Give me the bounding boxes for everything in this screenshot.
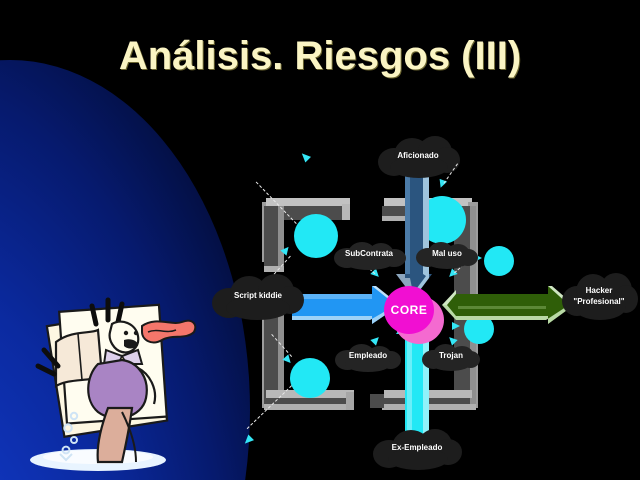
page-title: Análisis. Riesgos (III) bbox=[0, 34, 640, 79]
core-label: CORE bbox=[391, 303, 428, 317]
node-dot-bottom-left bbox=[290, 358, 330, 398]
cloud-mal-uso-label: Mal uso bbox=[432, 249, 462, 259]
cloud-ex-empleado[interactable]: Ex-Empleado bbox=[370, 426, 464, 470]
cloud-script-kiddie[interactable]: Script kiddie bbox=[210, 272, 306, 320]
cloud-empleado-label: Empleado bbox=[349, 351, 387, 361]
node-dot-right-mid bbox=[484, 246, 514, 276]
cloud-trojan[interactable]: Trojan bbox=[420, 342, 482, 370]
arrow-top-svg bbox=[396, 166, 440, 306]
risk-diagram: CORE SubContrata Mal uso Empleado bbox=[196, 118, 640, 478]
cloud-hacker-profesional[interactable]: Hacker "Profesional" bbox=[560, 270, 638, 322]
arrowhead-top-left bbox=[299, 150, 311, 162]
cloud-ex-empleado-label: Ex-Empleado bbox=[392, 443, 443, 453]
cloud-trojan-label: Trojan bbox=[439, 351, 463, 361]
cloud-hacker-label: Hacker "Profesional" bbox=[573, 285, 624, 307]
arrowhead-bottom-left bbox=[242, 434, 254, 446]
overwhelmed-person-clipart bbox=[26, 294, 202, 476]
arrow-right-hacker bbox=[442, 286, 576, 330]
arrow-top-aficionado bbox=[396, 166, 440, 306]
node-arrow-bottom-right bbox=[452, 322, 460, 330]
cloud-subcontrata-label: SubContrata bbox=[345, 249, 393, 259]
arrow-right-svg bbox=[442, 286, 576, 330]
cloud-script-kiddie-label: Script kiddie bbox=[234, 291, 282, 301]
cloud-subcontrata[interactable]: SubContrata bbox=[330, 240, 408, 268]
cloud-empleado[interactable]: Empleado bbox=[332, 342, 404, 370]
cloud-aficionado-label: Aficionado bbox=[397, 151, 438, 161]
clipart-svg bbox=[26, 294, 202, 476]
core-node[interactable]: CORE bbox=[384, 286, 434, 334]
cloud-aficionado[interactable]: Aficionado bbox=[374, 134, 462, 178]
slide-canvas: Análisis. Riesgos (III) bbox=[0, 0, 640, 480]
cloud-mal-uso[interactable]: Mal uso bbox=[414, 240, 480, 268]
